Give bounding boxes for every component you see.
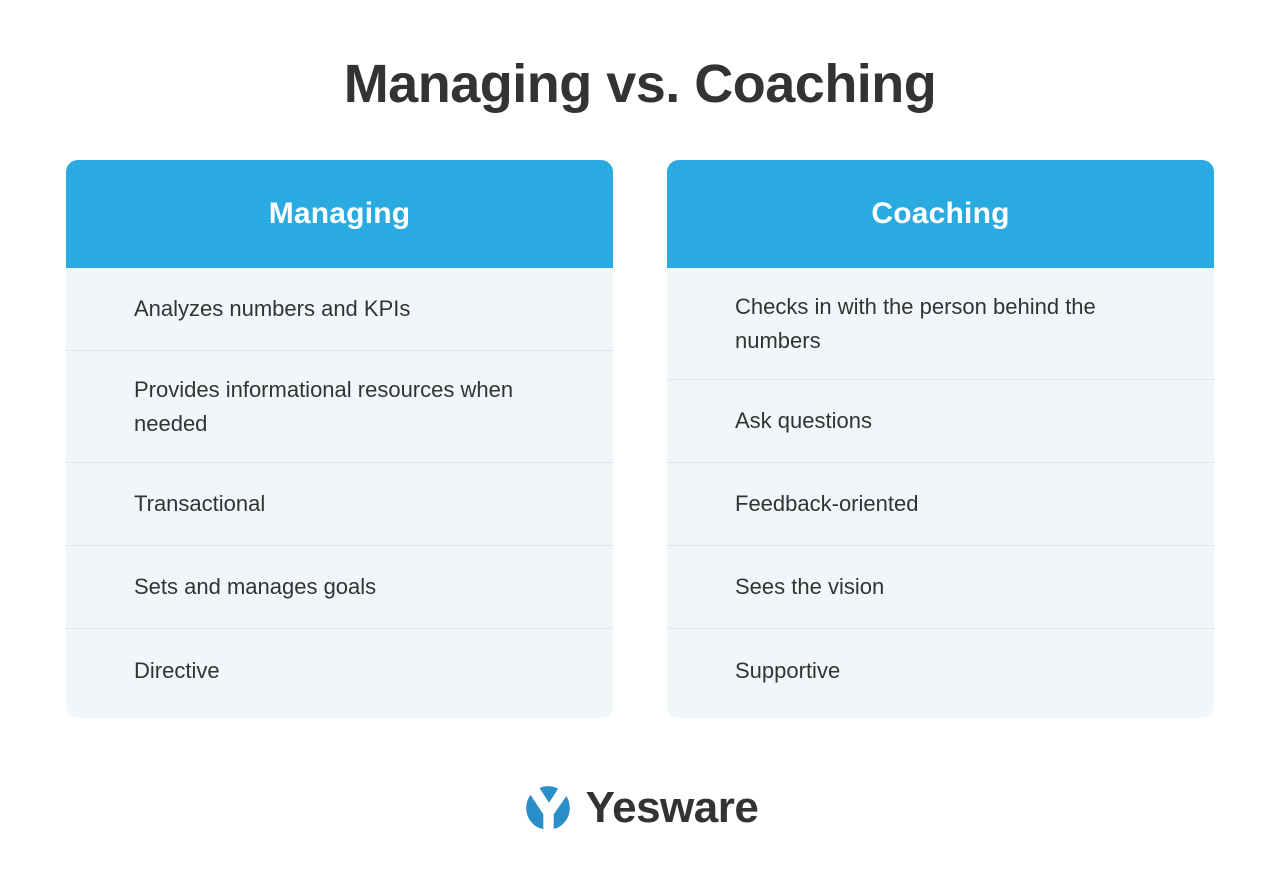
- column-body-coaching: Checks in with the person behind the num…: [667, 268, 1214, 718]
- row-text: Supportive: [735, 654, 840, 688]
- infographic-page: Managing vs. Coaching Managing Analyzes …: [0, 0, 1280, 872]
- table-row: Analyzes numbers and KPIs: [66, 268, 613, 351]
- yesware-y-circle-icon: [522, 782, 574, 834]
- page-title: Managing vs. Coaching: [0, 52, 1280, 116]
- row-text: Checks in with the person behind the num…: [735, 290, 1174, 358]
- row-text: Analyzes numbers and KPIs: [134, 292, 410, 326]
- column-coaching: Coaching Checks in with the person behin…: [667, 160, 1214, 718]
- table-row: Provides informational resources when ne…: [66, 351, 613, 463]
- table-row: Transactional: [66, 463, 613, 546]
- row-text: Transactional: [134, 487, 265, 521]
- yesware-wordmark: Yesware: [586, 786, 759, 830]
- footer: Yesware: [0, 782, 1280, 834]
- column-managing: Managing Analyzes numbers and KPIs Provi…: [66, 160, 613, 718]
- row-text: Ask questions: [735, 404, 872, 438]
- row-text: Sees the vision: [735, 570, 884, 604]
- row-text: Feedback-oriented: [735, 487, 918, 521]
- column-body-managing: Analyzes numbers and KPIs Provides infor…: [66, 268, 613, 718]
- row-text: Sets and manages goals: [134, 570, 376, 604]
- table-row: Sets and manages goals: [66, 546, 613, 629]
- column-header-managing: Managing: [66, 160, 613, 268]
- table-row: Supportive: [667, 629, 1214, 712]
- table-row: Feedback-oriented: [667, 463, 1214, 546]
- table-row: Sees the vision: [667, 546, 1214, 629]
- table-row: Checks in with the person behind the num…: [667, 268, 1214, 380]
- yesware-logo: Yesware: [522, 782, 759, 834]
- column-header-coaching: Coaching: [667, 160, 1214, 268]
- table-row: Ask questions: [667, 380, 1214, 463]
- row-text: Directive: [134, 654, 220, 688]
- row-text: Provides informational resources when ne…: [134, 373, 573, 441]
- table-row: Directive: [66, 629, 613, 712]
- comparison-columns: Managing Analyzes numbers and KPIs Provi…: [66, 160, 1214, 718]
